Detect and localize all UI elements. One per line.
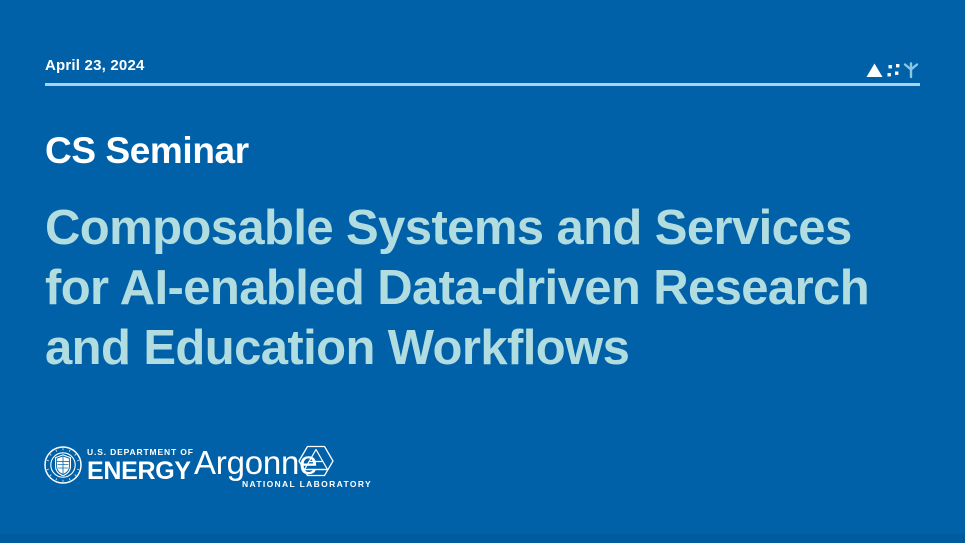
header-divider (45, 83, 920, 86)
page-title-line: Composable Systems and Services (45, 198, 935, 258)
doe-seal-icon (44, 446, 82, 484)
title-slide: April 23, 2024 CS Seminar Composable Sys… (0, 0, 965, 543)
page-title-line: and Education Workflows (45, 318, 935, 378)
slide-header: April 23, 2024 (45, 56, 920, 90)
argonne-hexagon-icon (296, 443, 336, 479)
slide-date: April 23, 2024 (45, 56, 145, 76)
doe-energy-text: ENERGY (87, 458, 185, 484)
argonne-logo: Argonne NATIONAL LABORATORY (194, 441, 384, 489)
page-eyebrow: CS Seminar (45, 128, 249, 174)
doe-logo: U.S. DEPARTMENT OF ENERGY (44, 443, 184, 487)
argonne-glyph-mark-icon (864, 60, 920, 82)
doe-wordmark: U.S. DEPARTMENT OF ENERGY (87, 447, 185, 484)
bottom-accent-band (0, 534, 965, 543)
page-title-line: for AI-enabled Data-driven Research (45, 258, 935, 318)
page-title: Composable Systems and Services for AI-e… (45, 198, 935, 378)
argonne-subtitle: NATIONAL LABORATORY (242, 479, 372, 489)
